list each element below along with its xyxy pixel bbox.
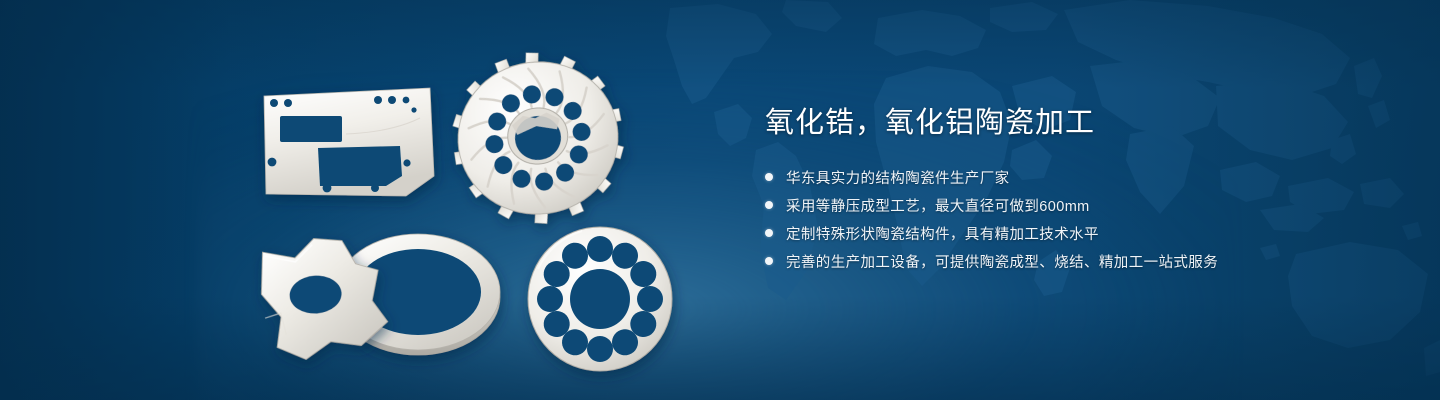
list-item: 采用等静压成型工艺，最大直径可做到600mm bbox=[765, 195, 1385, 216]
list-item: 定制特殊形状陶瓷结构件，具有精加工技术水平 bbox=[765, 223, 1385, 244]
ceramic-perforated-disc-part bbox=[528, 227, 672, 371]
hero-banner: 氧化锆，氧化铝陶瓷加工 华东具实力的结构陶瓷件生产厂家 采用等静压成型工艺，最大… bbox=[0, 0, 1440, 400]
ceramic-plate-part bbox=[264, 88, 434, 196]
feature-text: 定制特殊形状陶瓷结构件，具有精加工技术水平 bbox=[786, 223, 1099, 244]
banner-copy: 氧化锆，氧化铝陶瓷加工 华东具实力的结构陶瓷件生产厂家 采用等静压成型工艺，最大… bbox=[765, 106, 1385, 279]
feature-text: 完善的生产加工设备，可提供陶瓷成型、烧结、精加工一站式服务 bbox=[786, 251, 1218, 272]
bullet-dot-icon bbox=[765, 229, 773, 237]
product-photo-collage bbox=[0, 0, 740, 400]
bullet-dot-icon bbox=[765, 257, 773, 265]
feature-text: 采用等静压成型工艺，最大直径可做到600mm bbox=[786, 195, 1090, 216]
feature-list: 华东具实力的结构陶瓷件生产厂家 采用等静压成型工艺，最大直径可做到600mm 定… bbox=[765, 167, 1385, 272]
list-item: 华东具实力的结构陶瓷件生产厂家 bbox=[765, 167, 1385, 188]
feature-text: 华东具实力的结构陶瓷件生产厂家 bbox=[786, 167, 1010, 188]
banner-headline: 氧化锆，氧化铝陶瓷加工 bbox=[765, 106, 1385, 141]
ceramic-impeller-part bbox=[440, 41, 636, 236]
bullet-dot-icon bbox=[765, 201, 773, 209]
bullet-dot-icon bbox=[765, 173, 773, 181]
list-item: 完善的生产加工设备，可提供陶瓷成型、烧结、精加工一站式服务 bbox=[765, 251, 1385, 272]
